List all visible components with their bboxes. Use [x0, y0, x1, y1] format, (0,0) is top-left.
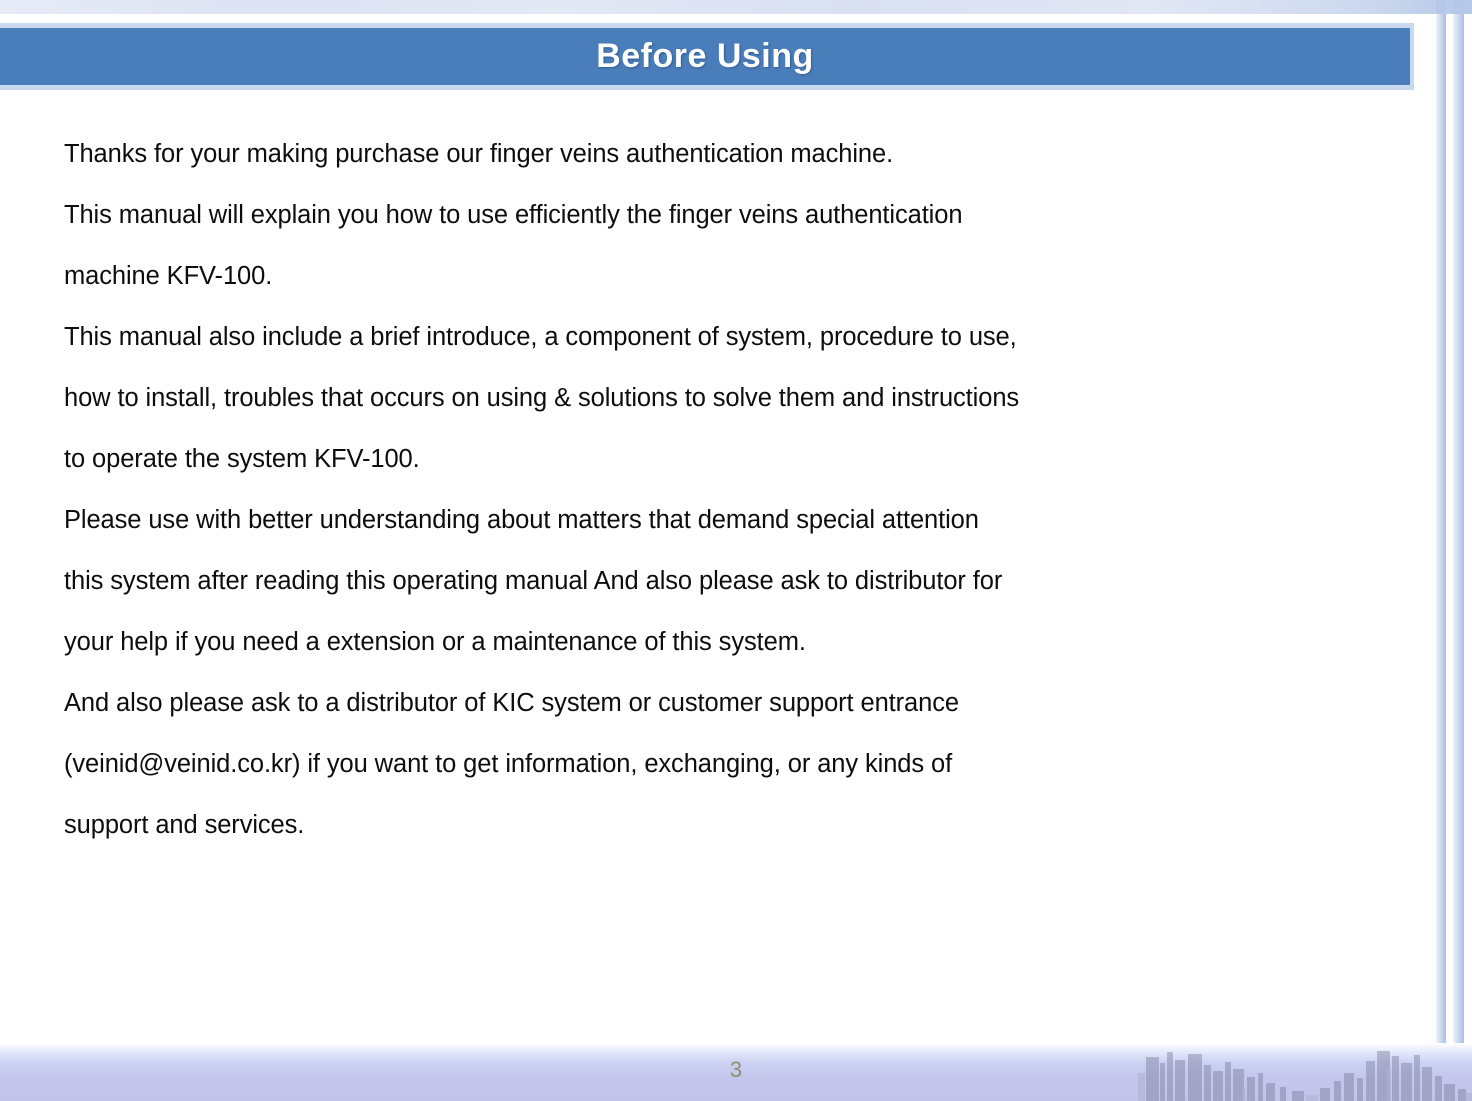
right-rail-outer: [1453, 0, 1464, 1101]
body-line: This manual also include a brief introdu…: [64, 307, 1364, 368]
body-copy: Thanks for your making purchase our fing…: [64, 124, 1364, 856]
body-line: This manual will explain you how to use …: [64, 185, 1364, 246]
body-line: how to install, troubles that occurs on …: [64, 368, 1364, 429]
body-line: And also please ask to a distributor of …: [64, 673, 1364, 734]
body-line: to operate the system KFV-100.: [64, 429, 1364, 490]
body-paragraph: Please use with better understanding abo…: [64, 490, 1364, 673]
body-paragraph: This manual will explain you how to use …: [64, 185, 1364, 307]
page-title: Before Using: [596, 37, 814, 76]
body-line: support and services.: [64, 795, 1364, 856]
body-line: your help if you need a extension or a m…: [64, 612, 1364, 673]
page-number: 3: [0, 1057, 1472, 1083]
slide-canvas: Before Using Thanks for your making purc…: [0, 0, 1472, 1101]
body-line: Thanks for your making purchase our fing…: [64, 124, 1364, 185]
slide-title-banner: Before Using: [0, 23, 1414, 90]
body-line: (veinid@veinid.co.kr) if you want to get…: [64, 734, 1364, 795]
slide-footer: 3: [0, 1043, 1472, 1101]
body-line: this system after reading this operating…: [64, 551, 1364, 612]
right-rail-inner-cap: [1436, 0, 1446, 14]
body-line: Please use with better understanding abo…: [64, 490, 1364, 551]
body-paragraph: Thanks for your making purchase our fing…: [64, 124, 1364, 185]
body-paragraph: And also please ask to a distributor of …: [64, 673, 1364, 856]
body-line: machine KFV-100.: [64, 246, 1364, 307]
right-rail-outer-cap: [1453, 0, 1464, 14]
body-paragraph: This manual also include a brief introdu…: [64, 307, 1364, 490]
right-rail-inner: [1436, 0, 1446, 1101]
top-decorative-strip: [0, 0, 1472, 14]
slide-title-banner-fill: Before Using: [0, 28, 1410, 85]
